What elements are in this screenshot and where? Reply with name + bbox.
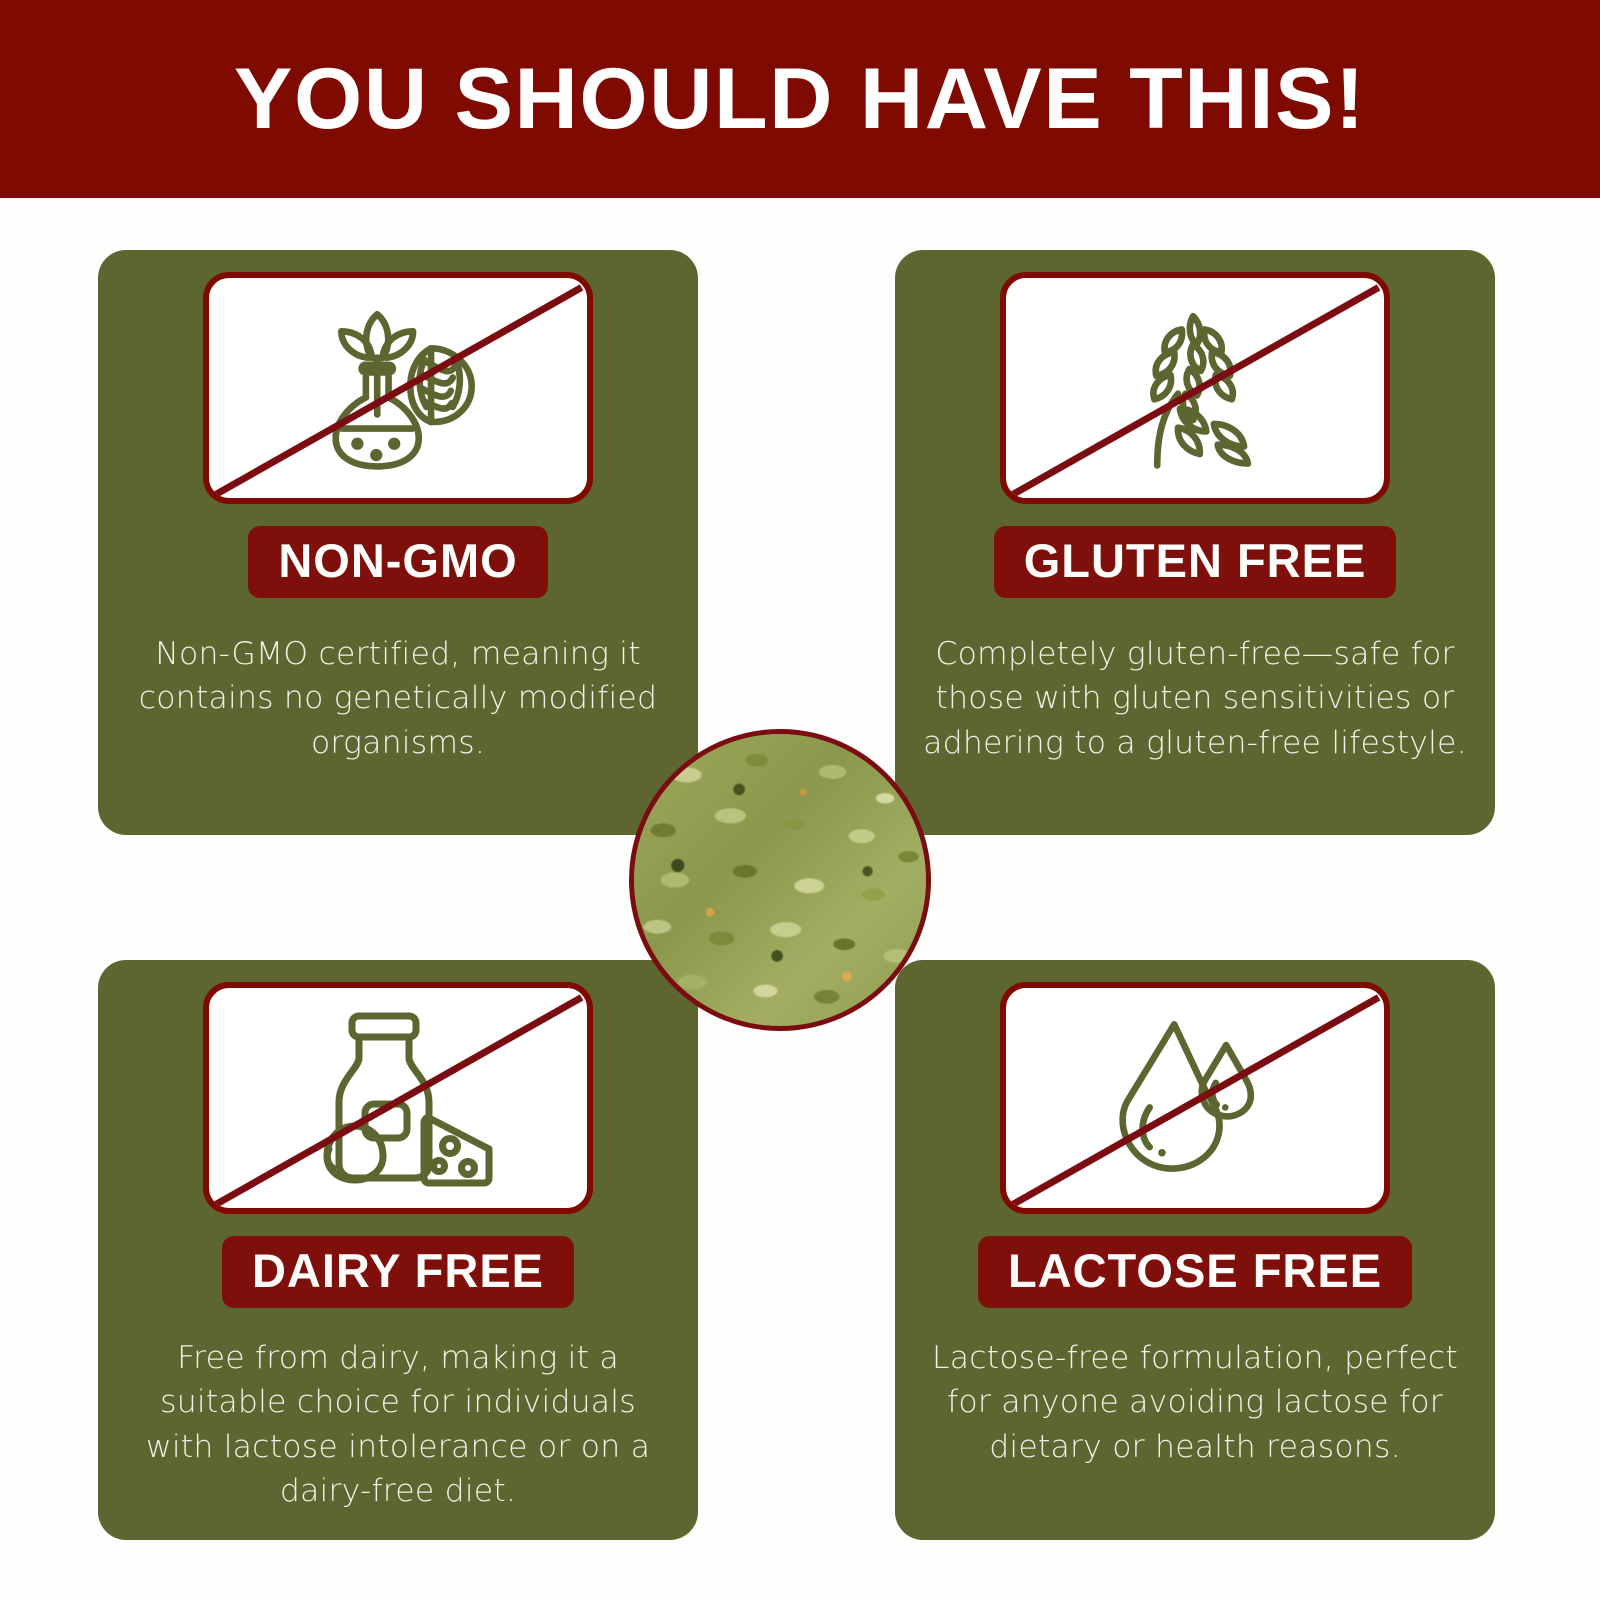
card-description: Lactose-free formulation, perfect for an… (921, 1336, 1469, 1468)
card-description: Non-GMO certified, meaning it contains n… (124, 632, 672, 764)
benefit-card-lactose-free: LACTOSE FREE Lactose-free formulation, p… (895, 960, 1495, 1540)
infographic-page: YOU SHOULD HAVE THIS! (0, 0, 1600, 1600)
badge-gluten-free: GLUTEN FREE (994, 526, 1397, 598)
card-description: Free from dairy, making it a suitable ch… (124, 1336, 672, 1512)
page-title: YOU SHOULD HAVE THIS! (234, 56, 1366, 142)
badge-label: LACTOSE FREE (1008, 1246, 1382, 1295)
header-banner: YOU SHOULD HAVE THIS! (0, 0, 1600, 198)
badge-label: GLUTEN FREE (1024, 536, 1367, 585)
badge-dairy-free: DAIRY FREE (222, 1236, 574, 1308)
gmo-flask-dna-icon (303, 303, 493, 473)
icon-box-lactose-free (1000, 982, 1390, 1214)
milk-bottle-cheese-icon (293, 1006, 503, 1191)
badge-label: NON-GMO (278, 536, 517, 585)
icon-box-gluten-free (1000, 272, 1390, 504)
badge-label: DAIRY FREE (252, 1246, 544, 1295)
water-droplet-icon (1100, 1013, 1290, 1183)
card-description: Completely gluten-free—safe for those wi… (921, 632, 1469, 764)
benefit-card-gluten-free: GLUTEN FREE Completely gluten-free—safe … (895, 250, 1495, 835)
benefit-card-dairy-free: DAIRY FREE Free from dairy, making it a … (98, 960, 698, 1540)
herb-flakes-texture (634, 734, 926, 1026)
badge-lactose-free: LACTOSE FREE (978, 1236, 1412, 1308)
badge-non-gmo: NON-GMO (248, 526, 547, 598)
benefit-card-non-gmo: NON-GMO Non-GMO certified, meaning it co… (98, 250, 698, 835)
icon-box-dairy-free (203, 982, 593, 1214)
wheat-stalk-icon (1100, 303, 1290, 473)
dried-herb-flakes-photo (629, 729, 931, 1031)
icon-box-non-gmo (203, 272, 593, 504)
